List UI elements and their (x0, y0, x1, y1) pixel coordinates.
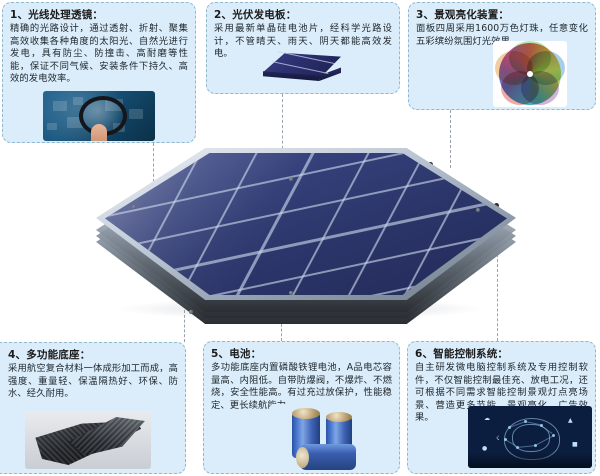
callout-4[interactable]: 4、多功能底座： 采用航空复合材料一体成形加工而成，高强度、重量轻、保温隔热好、… (0, 342, 186, 474)
monocrystalline-solar-cell-photo (251, 45, 355, 93)
cloud-icon: ☁ (484, 416, 490, 422)
infographic-canvas: 1、光线处理透镜： 精确的光路设计，通过透射、折射、聚集高效收集各种角度的太阳光… (0, 0, 600, 476)
panel-screw (289, 177, 293, 181)
callout-4-title: 4、多功能底座： (0, 348, 178, 362)
city-skyline (468, 452, 592, 468)
callout-4-body: 采用航空复合材料一体成形加工而成，高强度、重量轻、保温隔热好、环保、防水、经久耐… (0, 363, 178, 401)
callout-6[interactable]: 6、智能控制系统： 自主研发微电脑控制系统及专用控制软件，不仅智能控制最佳充、放… (407, 341, 596, 474)
color-wheel-photo (493, 41, 567, 107)
carbon-fiber-shell-photo (25, 411, 151, 469)
building-icon: ■ (572, 442, 578, 448)
callout-2[interactable]: 2、光伏发电板： 采用最新单晶硅电池片，经科学光路设计，不管晴天、雨天、阴天都能… (206, 2, 400, 94)
magnifier-over-data-photo (43, 91, 155, 141)
callout-3[interactable]: 3、景观亮化装置： 面板四周采用1600万色灯珠，任意变化五彩缤纷氛围灯光效果 (408, 2, 596, 110)
callout-5[interactable]: 5、电池： 多功能底座内置磷酸铁锂电池，A品电芯容量高、内阻低。自带防爆阀，不爆… (203, 341, 400, 474)
lithium-battery-cells-photo (270, 404, 390, 470)
antenna-icon: ▲ (568, 418, 573, 424)
hexagonal-solar-panel (96, 148, 516, 328)
callout-6-title: 6、智能控制系统： (415, 347, 588, 361)
callout-1-title: 1、光线处理透镜： (10, 8, 188, 22)
callout-2-title: 2、光伏发电板： (214, 8, 392, 22)
panel-screw (289, 291, 293, 295)
panel-screw (189, 310, 193, 314)
callout-1-body: 精确的光路设计，通过透射、折射、聚集高效收集各种角度的太阳光、自然光进行发电，具… (10, 23, 188, 86)
wifi-icon: ☇ (496, 436, 499, 442)
callout-1[interactable]: 1、光线处理透镜： 精确的光路设计，通过透射、折射、聚集高效收集各种角度的太阳光… (2, 2, 196, 143)
callout-3-title: 3、景观亮化装置： (416, 8, 588, 22)
connector-line-2 (282, 94, 283, 154)
panel-screw (476, 208, 480, 212)
smart-city-network-photo: ☁ ☇ ▲ ■ ● (468, 406, 592, 468)
panel-screw (132, 205, 136, 209)
callout-5-title: 5、电池： (211, 347, 392, 361)
